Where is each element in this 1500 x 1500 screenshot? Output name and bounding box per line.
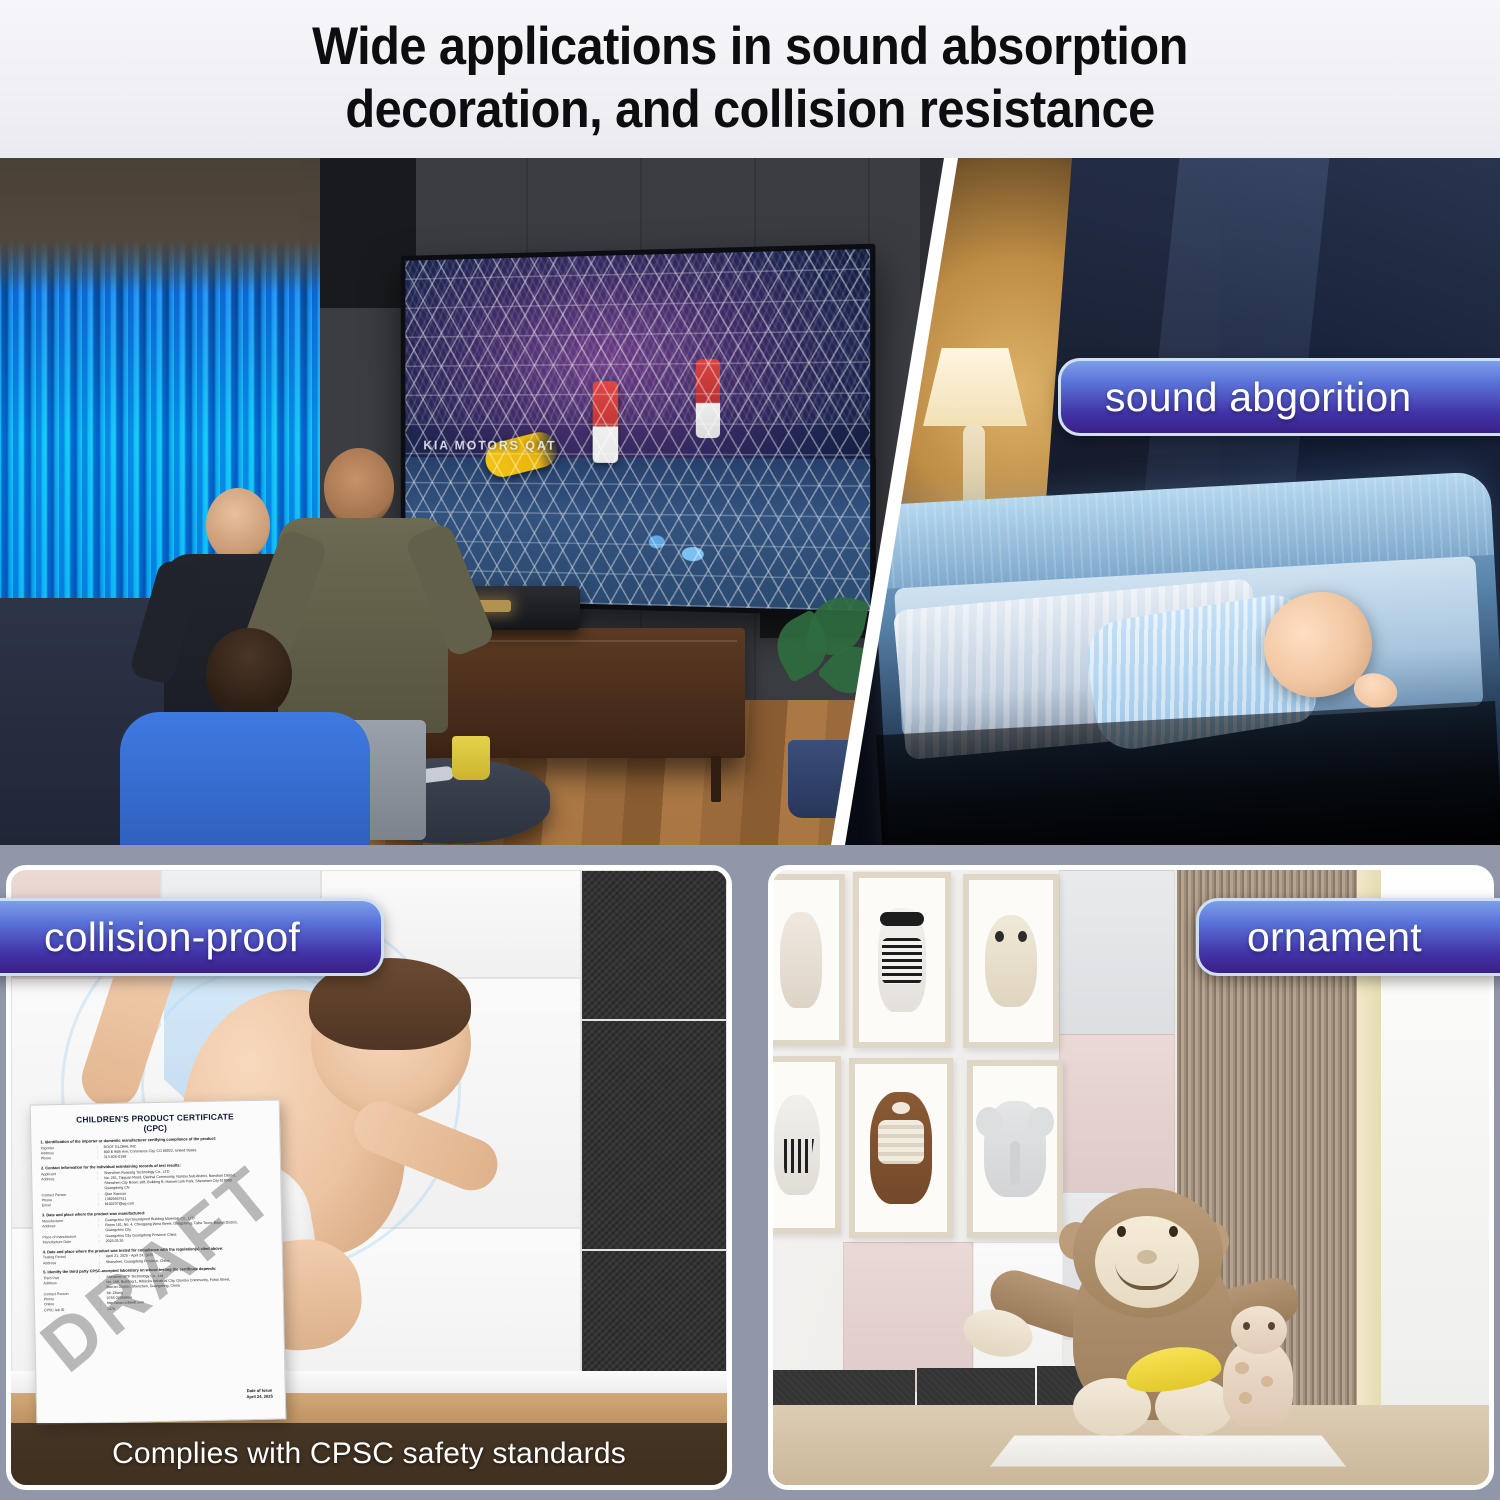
certificate-issue-date: April 24, 2025	[246, 1394, 273, 1401]
bottom-panel-row: CHILDREN'S PRODUCT CERTIFICATE (CPC) 1. …	[0, 845, 1500, 1500]
certificate-field-key: Phone	[41, 1155, 97, 1161]
poster-elephant	[967, 1060, 1063, 1238]
poster-owl	[963, 874, 1059, 1048]
badge-sound-absorption[interactable]: sound abgorition	[1058, 358, 1500, 436]
certificate-field-key: Email	[42, 1203, 98, 1209]
certificate-field-key: CPSC lab ID	[44, 1307, 100, 1313]
lamp-shade	[923, 348, 1027, 426]
cpsc-caption-text: Complies with CPSC safety standards	[112, 1437, 626, 1471]
certificate-field-key: Address	[43, 1260, 99, 1266]
giraffe-head	[1231, 1306, 1287, 1354]
badge-collision-proof[interactable]: collision-proof	[0, 898, 384, 976]
poster-rabbit	[768, 874, 845, 1046]
wall-tile	[1059, 1034, 1175, 1192]
monkey-eye-left	[1117, 1226, 1126, 1237]
poster-raccoon	[853, 872, 951, 1048]
person-seated-front	[120, 628, 370, 845]
floor-mat	[990, 1436, 1346, 1467]
certificate-issue-block: Date of Issue April 24, 2025	[246, 1388, 273, 1402]
monkey-eye-right	[1169, 1226, 1178, 1237]
product-infographic: Wide applications in sound absorption de…	[0, 0, 1500, 1500]
wall-tile	[1059, 870, 1175, 1034]
cpsc-caption-bar: Complies with CPSC safety standards	[11, 1423, 727, 1485]
badge-ornament[interactable]: ornament	[1196, 898, 1500, 976]
badge-ornament-label: ornament	[1247, 914, 1422, 961]
header-banner: Wide applications in sound absorption de…	[0, 0, 1500, 158]
top-panel-row: KIA MOTORS QAT	[0, 158, 1500, 845]
certificate-field-key: Manufacture Date	[43, 1239, 99, 1245]
page-title-line-2: decoration, and collision resistance	[207, 79, 1293, 142]
poster-fox	[768, 1056, 841, 1234]
badge-sound-absorption-label: sound abgorition	[1105, 374, 1411, 421]
badge-collision-proof-label: collision-proof	[44, 914, 300, 961]
page-title-line-1: Wide applications in sound absorption	[207, 16, 1293, 79]
certificate-body: 1. Identification of the importer or dom…	[40, 1135, 274, 1314]
sponsor-board: KIA MOTORS QAT	[414, 430, 860, 463]
wall-tile-dark	[581, 1020, 727, 1250]
television: KIA MOTORS QAT	[401, 244, 876, 617]
wall-tile-dark	[581, 870, 727, 1020]
poster-bear	[849, 1058, 953, 1238]
page-title: Wide applications in sound absorption de…	[207, 16, 1293, 141]
lamp-base	[963, 424, 985, 510]
cpc-certificate: CHILDREN'S PRODUCT CERTIFICATE (CPC) 1. …	[30, 1099, 287, 1424]
